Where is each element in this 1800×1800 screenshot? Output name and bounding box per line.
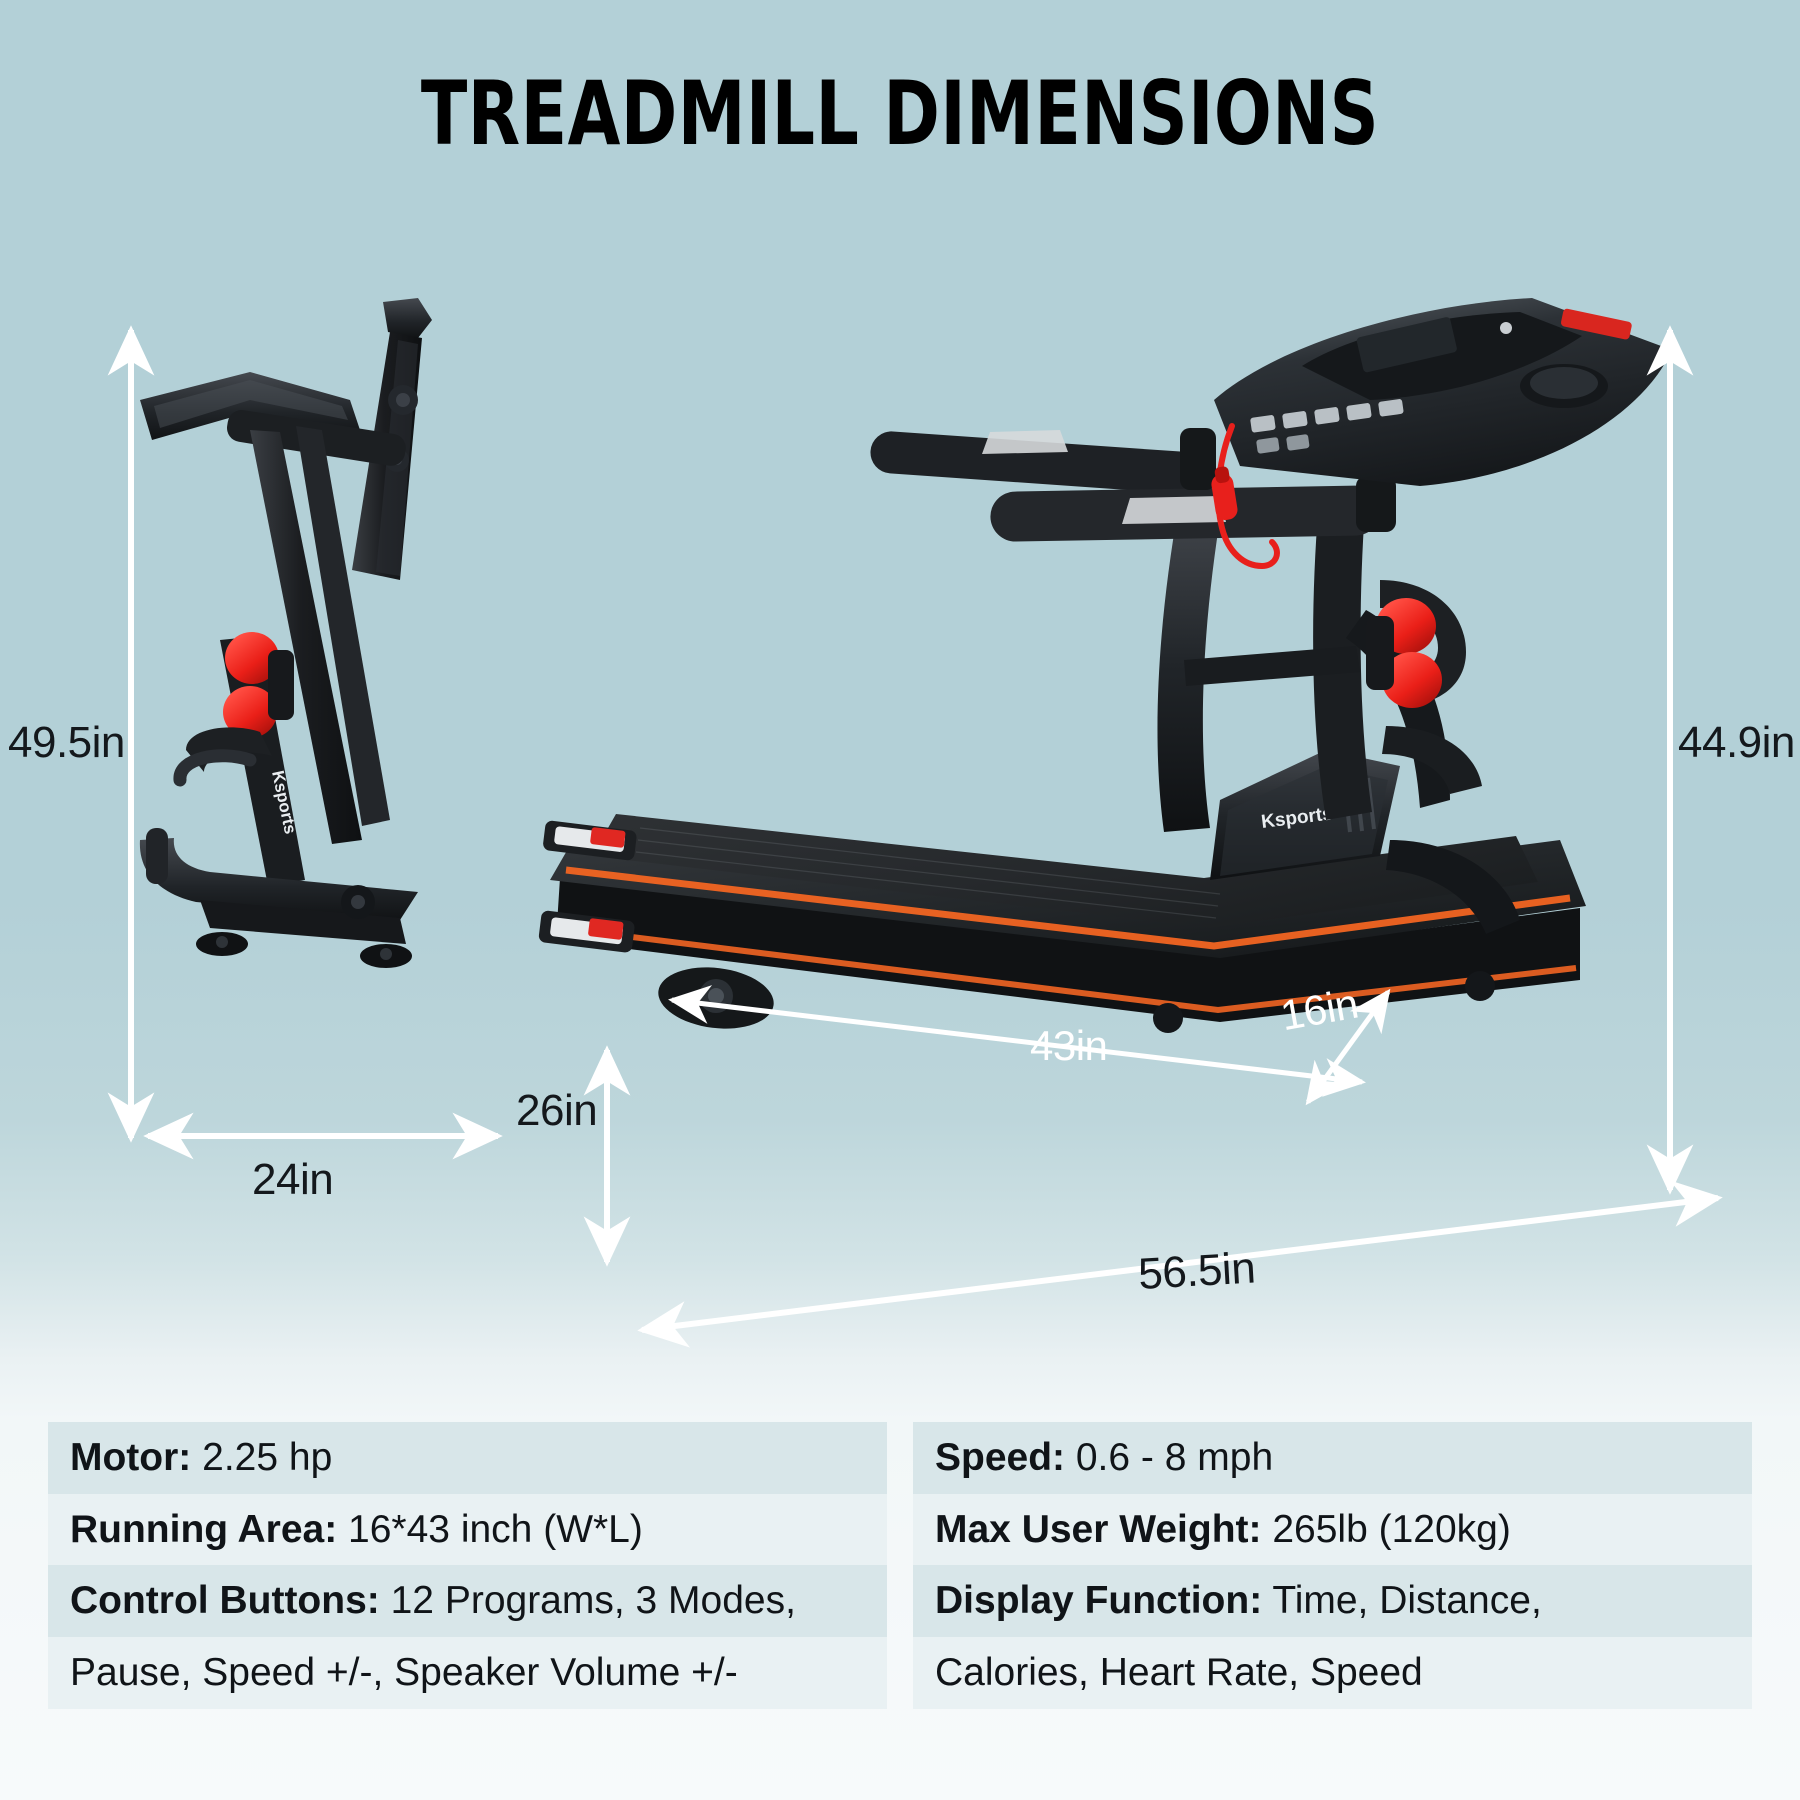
spec-value: 265lb (120kg) [1262, 1508, 1511, 1551]
spec-label: Motor: [70, 1436, 191, 1479]
console [1214, 298, 1672, 486]
spec-row: Max User Weight: 265lb (120kg) [913, 1494, 1752, 1566]
spec-row: Display Function: Time, Distance, [913, 1565, 1752, 1637]
page-title: TREADMILL DIMENSIONS [126, 62, 1674, 165]
spec-row: Running Area: 16*43 inch (W*L) [48, 1494, 887, 1566]
spec-value: Time, Distance, [1262, 1579, 1542, 1622]
front-roller [655, 961, 777, 1035]
spec-value: 12 Programs, 3 Modes, [380, 1579, 796, 1622]
specs-left-panel: Motor: 2.25 hp Running Area: 16*43 inch … [48, 1422, 887, 1709]
dimension-label-folded-depth: 24in [252, 1155, 333, 1205]
spec-label: Running Area: [70, 1508, 337, 1551]
spec-row: Speed: 0.6 - 8 mph [913, 1422, 1752, 1494]
spec-row: Control Buttons: 12 Programs, 3 Modes, [48, 1565, 887, 1637]
folded-treadmill-illustration: Ksports [100, 280, 520, 980]
spec-value: 16*43 inch (W*L) [337, 1508, 643, 1551]
spec-value: Calories, Heart Rate, Speed [935, 1651, 1423, 1694]
spec-row: Pause, Speed +/-, Speaker Volume +/- [48, 1637, 887, 1709]
dimension-label-folded-height: 49.5in [8, 718, 125, 768]
spec-label: Speed: [935, 1436, 1065, 1479]
spec-value: Pause, Speed +/-, Speaker Volume +/- [70, 1651, 738, 1694]
dimension-label-open-length: 56.5in [1137, 1243, 1256, 1299]
spec-label: Max User Weight: [935, 1508, 1262, 1551]
spec-label: Display Function: [935, 1579, 1262, 1622]
specs-right-panel: Speed: 0.6 - 8 mph Max User Weight: 265l… [913, 1422, 1752, 1709]
spec-label: Control Buttons: [70, 1579, 380, 1622]
dimension-label-open-height: 44.9in [1678, 718, 1795, 768]
spec-row: Motor: 2.25 hp [48, 1422, 887, 1494]
open-treadmill-illustration: Ksports [520, 280, 1720, 1080]
infographic-canvas: TREADMILL DIMENSIONS [0, 0, 1800, 1800]
dimension-label-belt-length: 43in [1030, 1022, 1107, 1070]
spec-value: 0.6 - 8 mph [1065, 1436, 1273, 1479]
dumbbell-holder [1366, 580, 1482, 794]
specifications-section: Motor: 2.25 hp Running Area: 16*43 inch … [48, 1422, 1752, 1709]
spec-row: Calories, Heart Rate, Speed [913, 1637, 1752, 1709]
spec-value: 2.25 hp [191, 1436, 332, 1479]
dimension-label-folded-width: 26in [516, 1086, 597, 1136]
